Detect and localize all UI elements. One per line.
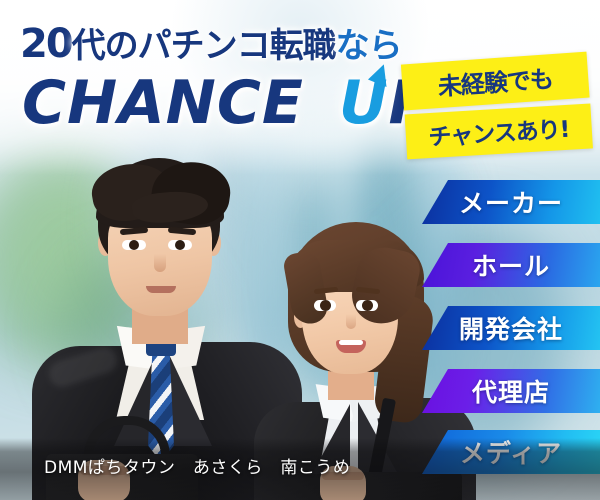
headline-rest: 代のパチンコ転職 [72,26,336,66]
category-button-hall[interactable]: ホール [422,243,600,287]
category-button-agency[interactable]: 代理店 [422,369,600,413]
category-label: 開発会社 [459,310,563,346]
category-button-maker[interactable]: メーカー [422,180,600,224]
male-nose [154,254,166,272]
no-experience-badge: 未経験でも チャンスあり! [401,52,593,161]
female-nose [346,314,356,329]
male-eye-right [168,240,192,250]
category-button-development-company[interactable]: 開発会社 [422,306,600,350]
logo-spacer [304,68,339,138]
category-label: 代理店 [472,373,550,409]
female-eye-left [314,300,336,311]
headline-text: 20代のパチンコ転職なら [20,18,402,67]
chance-up-logo: CHANCE UP [22,68,434,138]
caption-text: DMMぱちタウン あさくら 南こうめ [44,453,350,478]
category-label: メーカー [459,184,563,220]
headline-number: 20 [20,21,72,67]
logo-word-chance: CHANCE [22,68,304,138]
female-teeth [339,340,363,345]
female-eye-right [356,300,378,311]
male-mouth [146,286,176,293]
logo-letter-u: U [339,68,389,138]
category-label: ホール [472,247,550,283]
headline-suffix: なら [336,26,402,66]
promo-banner: 20代のパチンコ転職なら CHANCE UP 未経験でも チャンスあり! メーカ… [0,0,600,500]
male-eye-left [122,240,146,250]
